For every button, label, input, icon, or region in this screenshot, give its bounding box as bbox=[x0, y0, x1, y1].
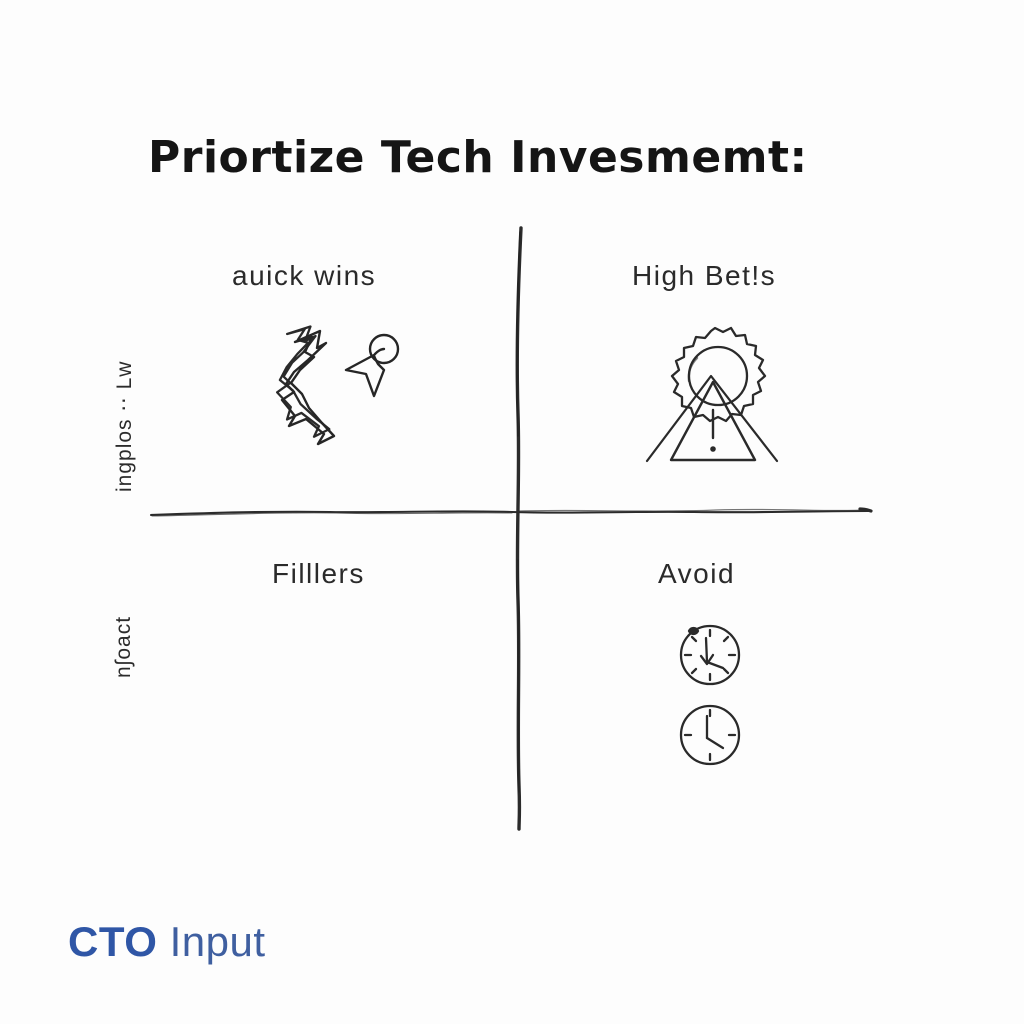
sketch-matrix-canvas: Priortize Tech Invesmemt: ingplos ⋅⋅ Lw … bbox=[0, 0, 1024, 1024]
footer-brand: CTO Input bbox=[68, 918, 266, 966]
quadrant-label-quick-wins: auick wins bbox=[232, 260, 376, 292]
gear-icon bbox=[672, 328, 765, 421]
quadrant-label-high-bets: High Bet!s bbox=[632, 260, 776, 292]
y-axis-label-lower: nʃoact bbox=[112, 616, 136, 678]
quick-wins-icon-group bbox=[262, 322, 412, 457]
page-title: Priortize Tech Invesmemt: bbox=[148, 132, 928, 183]
cursor-pointer-icon bbox=[346, 335, 398, 396]
avoid-icon-group bbox=[655, 618, 775, 773]
high-bets-icon-group bbox=[645, 320, 785, 465]
footer-brand-rest: Input bbox=[157, 918, 265, 965]
zigzag-arrow-stroke bbox=[282, 331, 334, 444]
clock-down-arrow-icon bbox=[681, 626, 739, 684]
clock-icon bbox=[681, 706, 739, 764]
horizontal-axis-icon bbox=[151, 509, 871, 516]
quadrant-label-avoid: Avoid bbox=[658, 558, 735, 590]
vertical-axis-icon bbox=[517, 228, 521, 829]
footer-brand-strong: CTO bbox=[68, 918, 157, 965]
y-axis-label-upper: ingplos ⋅⋅ Lw bbox=[112, 361, 137, 492]
quadrant-label-fillers: Filllers bbox=[272, 558, 365, 590]
